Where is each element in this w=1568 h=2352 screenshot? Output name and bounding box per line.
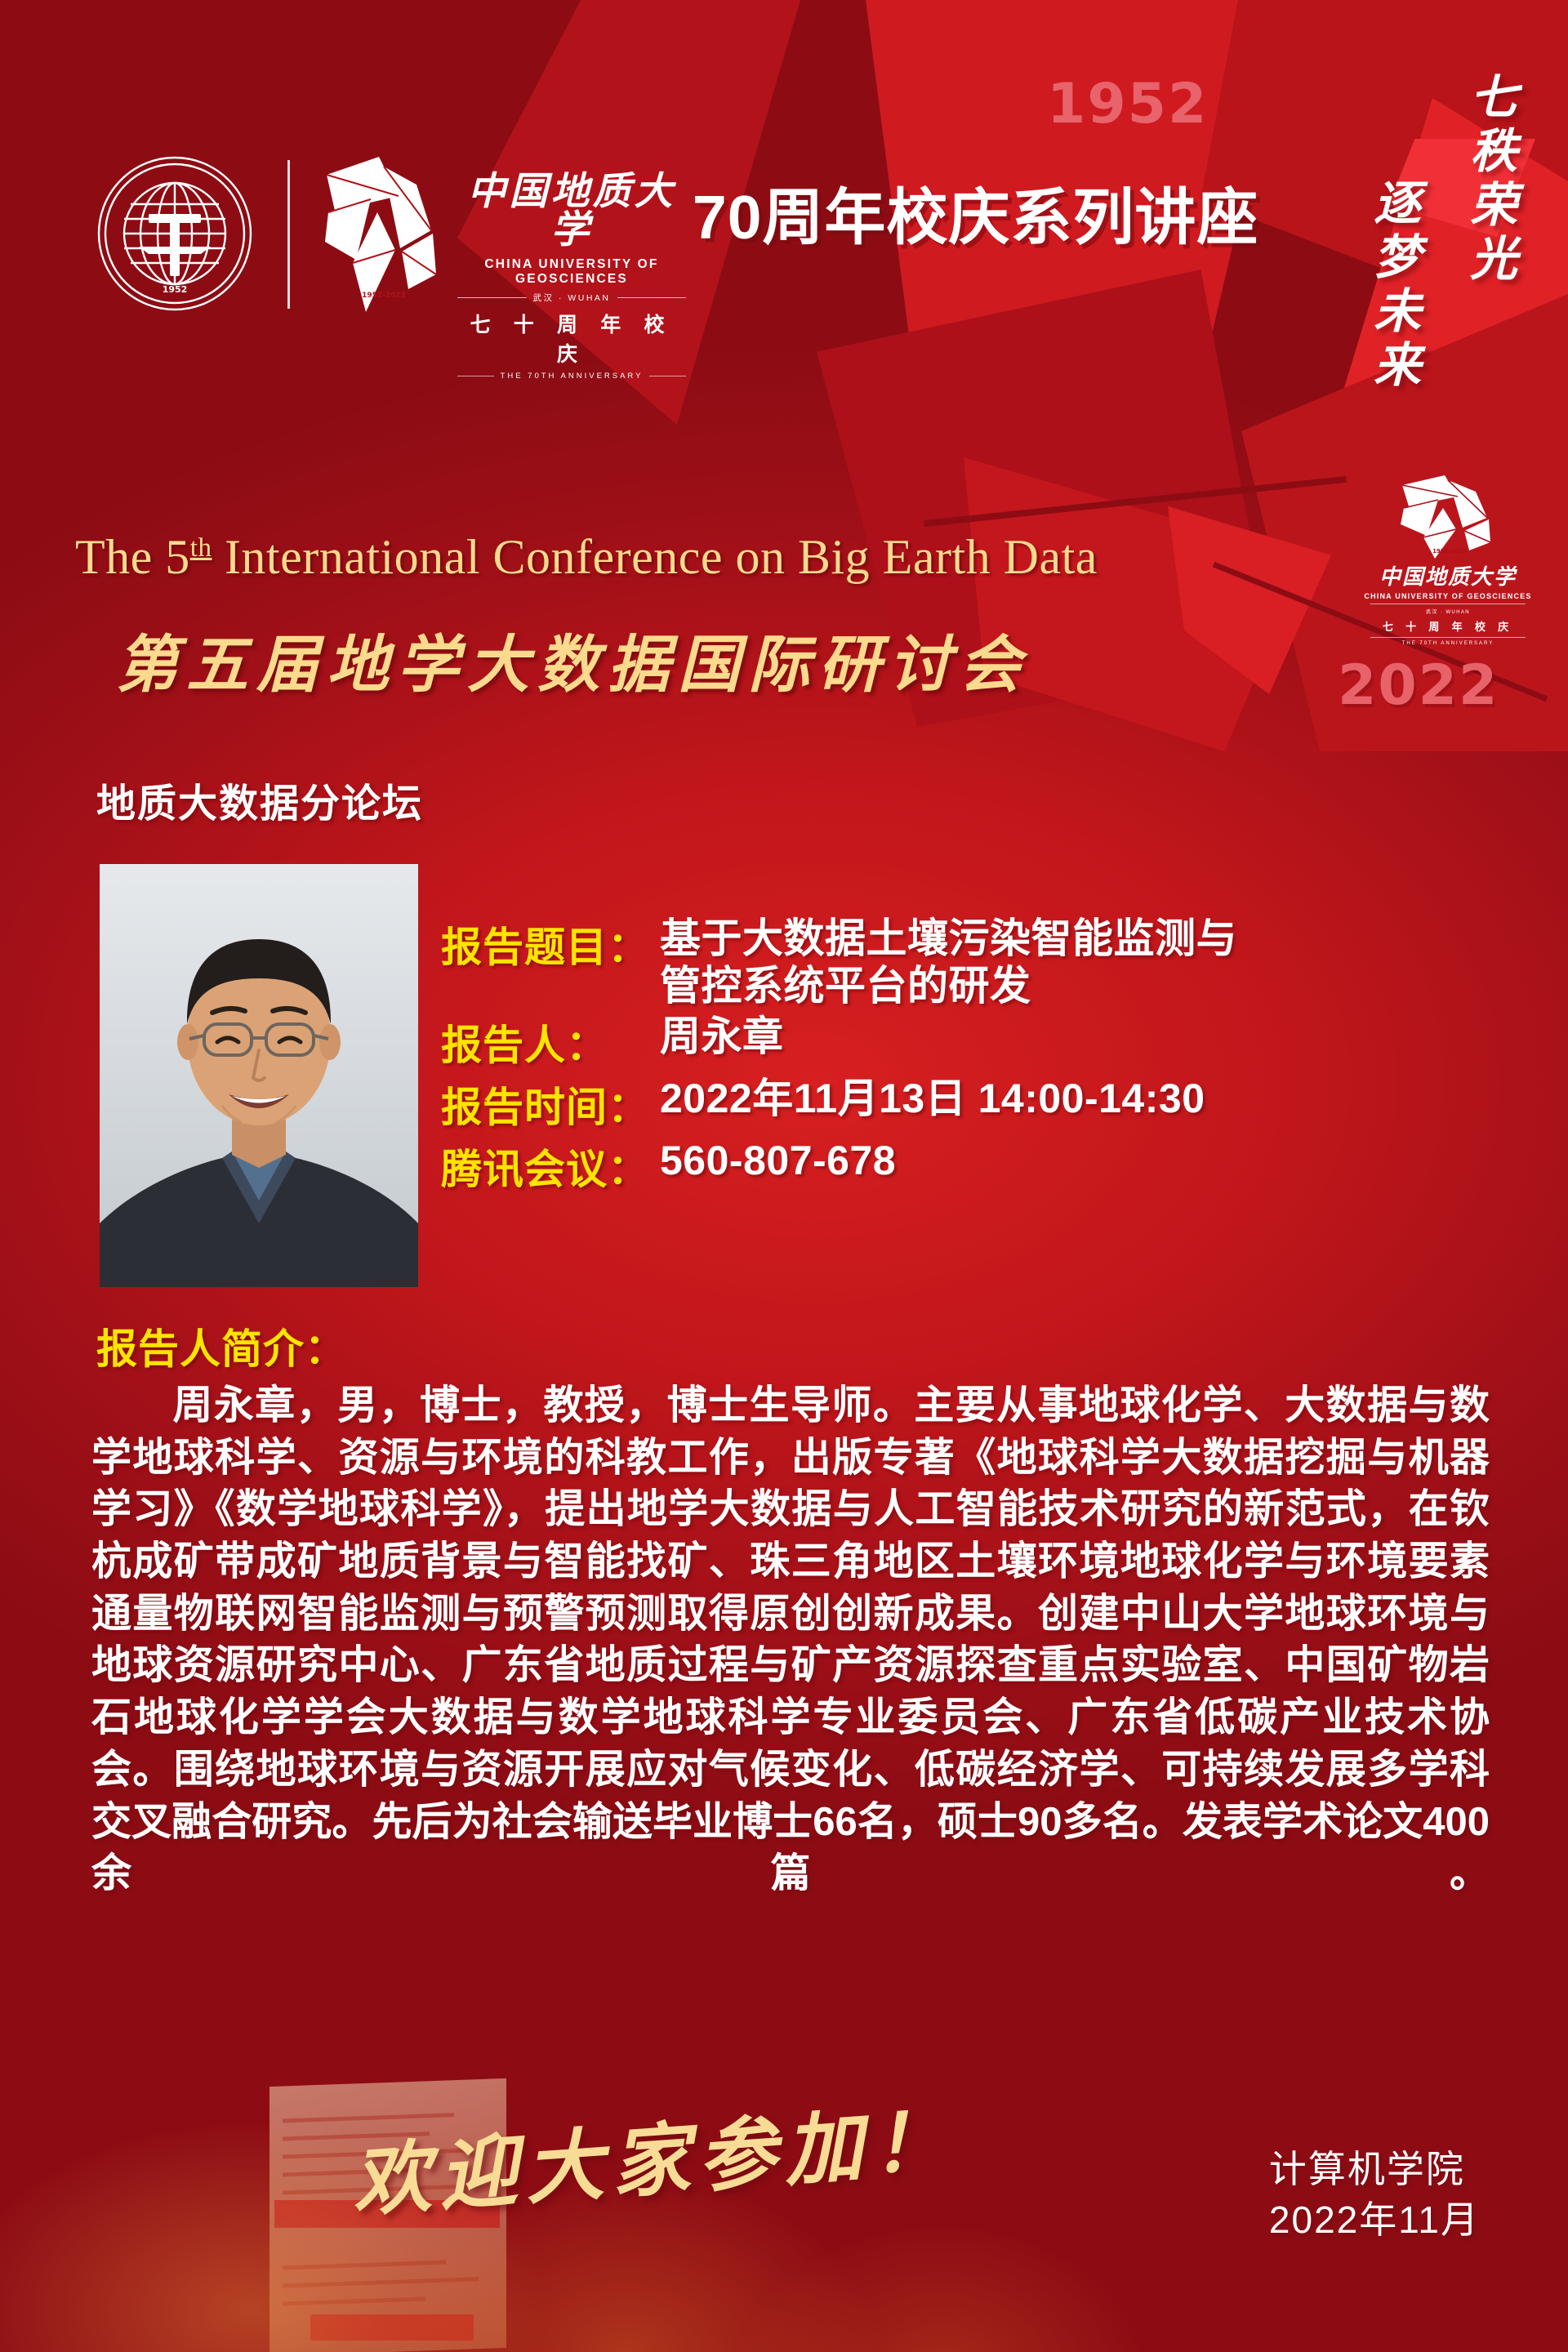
bio-text-content: 周永章，男，博士，教授，博士生导师。主要从事地球化学、大数据与数学地球科学、资源… bbox=[91, 1383, 1490, 1895]
year-current-watermark: 2022 bbox=[1338, 653, 1499, 718]
secondary-divider bbox=[1370, 637, 1526, 638]
university-name-en: CHINA UNIVERSITY OF GEOSCIENCES bbox=[457, 257, 686, 287]
poster-date: 2022年11月 bbox=[1269, 2195, 1480, 2246]
secondary-university-name-en: CHINA UNIVERSITY OF GEOSCIENCES bbox=[1362, 592, 1534, 600]
secondary-anniversary-cn: 七 十 周 年 校 庆 bbox=[1362, 618, 1534, 634]
university-name-cn: 中国地质大学 bbox=[457, 173, 686, 250]
decorative-document-seal bbox=[310, 2314, 474, 2341]
anniversary-70-mark-icon: 1952-2022 bbox=[320, 152, 443, 318]
secondary-anniversary-en: THE 70TH ANNIVERSARY bbox=[1362, 641, 1534, 646]
slogan-chase-future: 逐梦未来 bbox=[1365, 178, 1419, 394]
talk-title-line2: 管控系统平台的研发 bbox=[660, 962, 1237, 1009]
meeting-label: 腾讯会议： bbox=[441, 1137, 660, 1196]
anniversary-cn-label: 七 十 周 年 校 庆 bbox=[457, 309, 686, 367]
talk-title-label: 报告题目： bbox=[441, 915, 660, 973]
talk-info-row-time: 报告时间： 2022年11月13日 14:00-14:30 bbox=[441, 1075, 1511, 1134]
secondary-anniversary-logo: 1952-2022 中国地质大学 CHINA UNIVERSITY OF GEO… bbox=[1362, 472, 1534, 646]
organizer-name: 计算机学院 bbox=[1269, 2145, 1480, 2195]
meeting-id-value: 560-807-678 bbox=[660, 1137, 896, 1184]
conference-title-en-prefix: The 5 bbox=[75, 530, 190, 584]
anniversary-70-mark-small-icon: 1952-2022 bbox=[1397, 472, 1499, 562]
time-value: 2022年11月13日 14:00-14:30 bbox=[660, 1075, 1205, 1122]
secondary-university-city: 武汉 · WUHAN bbox=[1362, 608, 1534, 615]
decorative-facet bbox=[964, 457, 1307, 751]
organizer-block: 计算机学院 2022年11月 bbox=[1269, 2145, 1480, 2245]
talk-title-value: 基于大数据土壤污染智能监测与 管控系统平台的研发 bbox=[660, 915, 1237, 1009]
secondary-university-name-block: 中国地质大学 CHINA UNIVERSITY OF GEOSCIENCES 武… bbox=[1362, 567, 1534, 646]
decorative-stripe bbox=[924, 476, 1347, 527]
seal-year-label: 1952 bbox=[163, 284, 188, 295]
anniversary-years-small-label: 1952-2022 bbox=[1432, 548, 1467, 555]
talk-info-block: 报告题目： 基于大数据土壤污染智能监测与 管控系统平台的研发 报告人： 周永章 … bbox=[441, 915, 1511, 1199]
speaker-value: 周永章 bbox=[660, 1013, 784, 1060]
conference-title-en: The 5th International Conference on Big … bbox=[75, 529, 1316, 586]
year-founded-watermark: 1952 bbox=[1047, 72, 1208, 136]
header-divider bbox=[287, 160, 290, 309]
speaker-label: 报告人： bbox=[441, 1013, 660, 1071]
speaker-portrait bbox=[100, 864, 418, 1287]
conference-title-en-rest: International Conference on Big Earth Da… bbox=[212, 530, 1097, 584]
university-seal-icon: 1952 bbox=[96, 155, 253, 312]
welcome-message: 欢迎大家参加！ bbox=[348, 2076, 960, 2231]
secondary-university-name-cn: 中国地质大学 bbox=[1362, 567, 1534, 588]
talk-info-row-title: 报告题目： 基于大数据土壤污染智能监测与 管控系统平台的研发 bbox=[441, 915, 1511, 1009]
poster-root: 1952 七秩荣光 逐梦未来 1952 bbox=[0, 0, 1568, 2352]
conference-title-en-ordinal: th bbox=[190, 533, 212, 563]
conference-title-cn: 第五届地学大数据国际研讨会 bbox=[116, 614, 1029, 704]
university-city: 武汉 · WUHAN bbox=[457, 292, 686, 304]
bio-text: 周永章，男，博士，教授，博士生导师。主要从事地球化学、大数据与数学地球科学、资源… bbox=[91, 1380, 1490, 1900]
anniversary-years-label: 1952-2022 bbox=[362, 292, 406, 300]
slogan-seven-decades: 七秩荣光 bbox=[1462, 72, 1515, 287]
talk-info-row-meeting: 腾讯会议： 560-807-678 bbox=[441, 1137, 1511, 1196]
anniversary-en-label: THE 70TH ANNIVERSARY bbox=[457, 372, 686, 381]
talk-info-row-speaker: 报告人： 周永章 bbox=[441, 1013, 1511, 1071]
talk-title-line1: 基于大数据土壤污染智能监测与 bbox=[660, 915, 1237, 962]
university-name-block: 中国地质大学 CHINA UNIVERSITY OF GEOSCIENCES 武… bbox=[457, 173, 686, 381]
subforum-title: 地质大数据分论坛 bbox=[96, 771, 423, 828]
secondary-divider bbox=[1370, 604, 1526, 604]
time-label: 报告时间： bbox=[441, 1075, 660, 1134]
lecture-series-title: 70周年校庆系列讲座 bbox=[693, 167, 1258, 256]
bio-heading: 报告人简介： bbox=[96, 1316, 346, 1375]
